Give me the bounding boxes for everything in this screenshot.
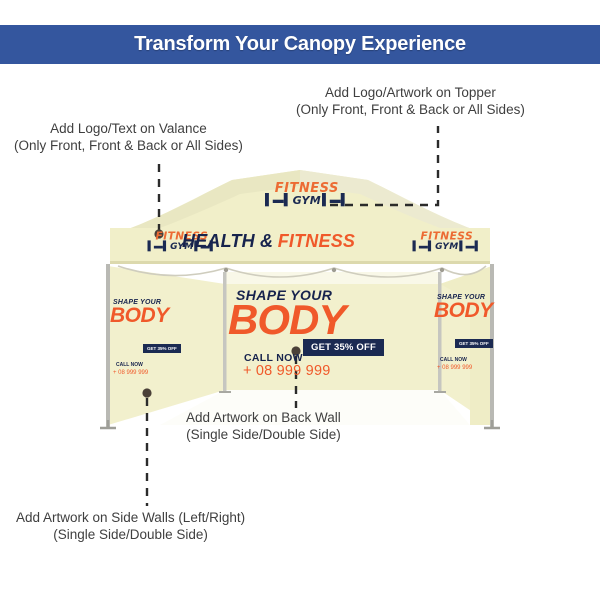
leftwall-phone: + 08 999 999	[113, 370, 148, 376]
leftwall-offer-badge: GET 35% OFF	[143, 344, 181, 353]
valance-logo-right: FITNESS ▌▬▌ GYM ▌▬▌	[413, 231, 482, 251]
rightwall-headline-big: BODY	[434, 300, 493, 322]
valance-title-part1: HEALTH &	[182, 231, 273, 251]
leftwall-headline-big: BODY	[110, 305, 169, 327]
valance-band-edge	[110, 261, 490, 264]
pole-back-right	[438, 272, 442, 392]
dumbbell-icon: ▌▬▌	[459, 242, 481, 251]
callout-valance-line1: Add Logo/Text on Valance	[14, 120, 243, 137]
backwall-offer-badge: GET 35% OFF	[303, 339, 384, 356]
topper-sub-row: ▌▬▌ GYM ▌▬▌	[265, 195, 349, 206]
callout-sidewalls-line1: Add Artwork on Side Walls (Left/Right)	[16, 509, 245, 526]
callout-backwall-line1: Add Artwork on Back Wall	[186, 409, 341, 426]
dumbbell-icon: ▌▬▌	[148, 242, 170, 251]
canopy-infographic: Transform Your Canopy Experience	[0, 0, 600, 600]
truss-joint	[332, 268, 336, 272]
canopy-underside	[225, 272, 440, 284]
truss-joint	[440, 268, 444, 272]
dumbbell-icon: ▌▬▌	[265, 195, 292, 206]
backwall-headline-big: BODY	[228, 298, 345, 342]
rightwall-offer-badge: GET 35% OFF	[455, 339, 493, 348]
callout-backwall: Add Artwork on Back Wall (Single Side/Do…	[186, 409, 341, 443]
callout-topper-line1: Add Logo/Artwork on Topper	[296, 84, 525, 101]
dumbbell-icon: ▌▬▌	[413, 242, 435, 251]
callout-sidewalls-line2: (Single Side/Double Side)	[16, 526, 245, 543]
rightwall-call-label: CALL NOW	[440, 357, 467, 363]
valance-logo-sub-row: ▌▬▌ GYM ▌▬▌	[413, 242, 482, 251]
callout-valance: Add Logo/Text on Valance (Only Front, Fr…	[14, 120, 243, 154]
backwall-phone: + 08 999 999	[243, 363, 330, 379]
rightwall-phone: + 08 999 999	[437, 365, 472, 371]
valance-title: HEALTH & FITNESS	[182, 231, 355, 252]
leader-dot-sidewalls	[142, 388, 151, 397]
callout-sidewalls: Add Artwork on Side Walls (Left/Right) (…	[16, 509, 245, 543]
callout-valance-line2: (Only Front, Front & Back or All Sides)	[14, 137, 243, 154]
dumbbell-icon: ▌▬▌	[322, 195, 349, 206]
valance-title-part2: FITNESS	[278, 231, 355, 251]
callout-topper-line2: (Only Front, Front & Back or All Sides)	[296, 101, 525, 118]
leftwall-call-label: CALL NOW	[116, 362, 143, 368]
callout-topper: Add Logo/Artwork on Topper (Only Front, …	[296, 84, 525, 118]
pole-front-left	[106, 264, 110, 428]
topper-logo: FITNESS ▌▬▌ GYM ▌▬▌	[265, 182, 349, 206]
valance-logo-sub: GYM	[435, 242, 458, 251]
topper-sub: GYM	[293, 195, 321, 206]
truss-joint	[224, 268, 228, 272]
pole-back-left	[223, 272, 227, 392]
callout-backwall-line2: (Single Side/Double Side)	[186, 426, 341, 443]
